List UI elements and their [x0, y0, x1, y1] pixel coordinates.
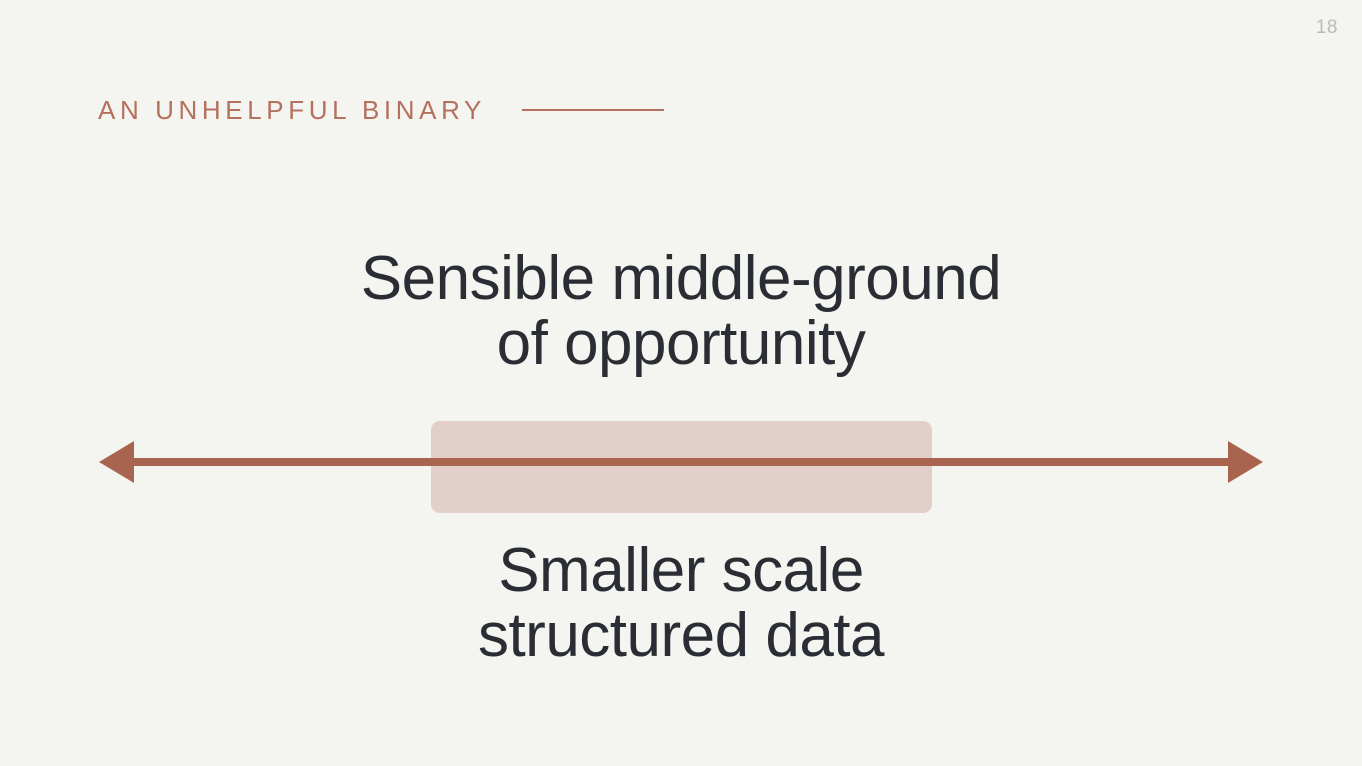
- top-caption: Sensible middle-ground of opportunity: [0, 246, 1362, 376]
- right-arrowhead-icon: [1228, 441, 1263, 483]
- slide-canvas: 18 AN UNHELPFUL BINARY Sensible middle-g…: [0, 0, 1362, 766]
- top-caption-line-2: of opportunity: [0, 311, 1362, 376]
- bottom-caption-line-1: Smaller scale: [0, 538, 1362, 603]
- spectrum-axis-line: [131, 458, 1231, 466]
- bottom-caption: Smaller scale structured data: [0, 538, 1362, 668]
- middle-ground-highlight-band: [431, 421, 932, 513]
- spectrum-diagram: Sensible middle-ground of opportunity Sm…: [0, 0, 1362, 766]
- top-caption-line-1: Sensible middle-ground: [0, 246, 1362, 311]
- bottom-caption-line-2: structured data: [0, 603, 1362, 668]
- left-arrowhead-icon: [99, 441, 134, 483]
